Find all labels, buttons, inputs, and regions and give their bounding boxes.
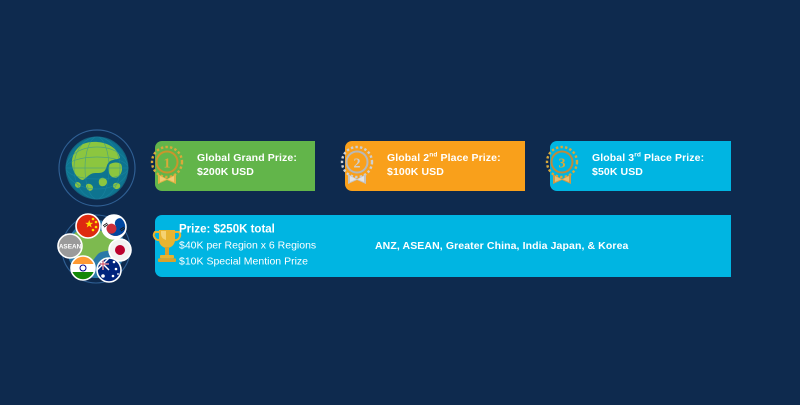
regional-prize-detail-2: $10K Special Mention Prize [179, 255, 316, 271]
regional-prize-text: Prize: $250K total $40K per Region x 6 R… [179, 222, 316, 271]
medal-second-place-icon: 2 [337, 143, 377, 189]
svg-text:1: 1 [164, 157, 171, 172]
global-grand-prize-text: Global Grand Prize: $200K USD [197, 152, 297, 180]
asean-badge: ASEAN [58, 234, 82, 258]
flags-cluster-icon: ASEAN [52, 210, 134, 286]
global-second-place-text: Global 2nd Place Prize: $100K USD [387, 152, 501, 180]
global-second-place-card[interactable]: 2 Global 2nd Place Prize: $100K USD [345, 141, 525, 191]
card-title: Global 3rd Place Prize: [592, 152, 704, 164]
regions-list: ANZ, ASEAN, Greater China, India Japan, … [375, 240, 628, 252]
regional-prize-headline: Prize: $250K total [179, 222, 316, 239]
india-flag [71, 256, 95, 280]
card-amount: $200K USD [197, 166, 297, 180]
regional-prize-bar[interactable]: Prize: $250K total $40K per Region x 6 R… [155, 215, 731, 277]
svg-text:3: 3 [559, 157, 566, 172]
card-title: Global Grand Prize: [197, 152, 297, 164]
card-amount: $50K USD [592, 166, 704, 180]
global-grand-prize-card[interactable]: 1 Global Grand Prize: $200K USD [155, 141, 315, 191]
prize-infographic: 1 Global Grand Prize: $200K USD 2 [0, 0, 800, 405]
global-third-place-card[interactable]: 3 Global 3rd Place Prize: $50K USD [550, 141, 731, 191]
regional-prize-detail-1: $40K per Region x 6 Regions [179, 239, 316, 255]
medal-third-place-icon: 3 [542, 143, 582, 189]
card-amount: $100K USD [387, 166, 501, 180]
australia-flag [97, 258, 121, 282]
global-third-place-text: Global 3rd Place Prize: $50K USD [592, 152, 704, 180]
medal-first-place-icon: 1 [147, 143, 187, 189]
svg-text:2: 2 [354, 157, 361, 172]
global-prize-row: 1 Global Grand Prize: $200K USD 2 [0, 141, 800, 191]
svg-text:ASEAN: ASEAN [59, 244, 82, 251]
card-title: Global 2nd Place Prize: [387, 152, 501, 164]
china-flag [76, 214, 100, 238]
south-korea-flag [102, 215, 130, 240]
